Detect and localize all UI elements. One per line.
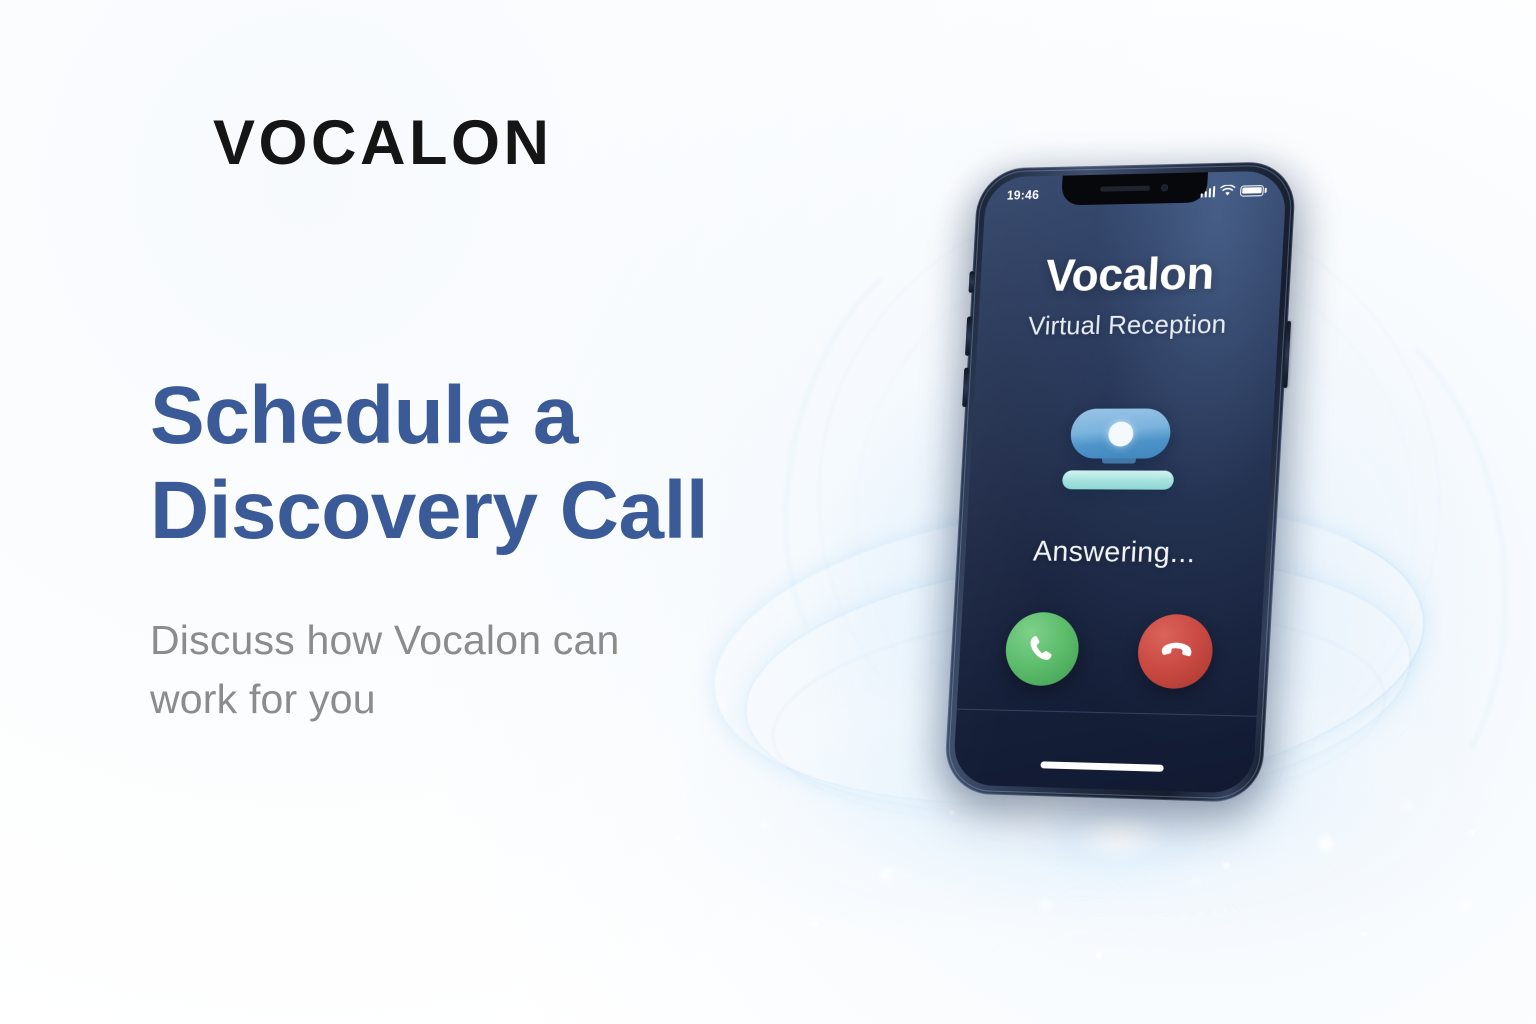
bokeh-particle — [130, 820, 138, 828]
app-title: Vocalon — [1045, 250, 1216, 297]
accept-call-button[interactable] — [1004, 612, 1081, 687]
call-action-buttons — [958, 611, 1262, 690]
bokeh-particle — [1460, 900, 1472, 912]
phone-hangup-icon — [1156, 633, 1194, 670]
bokeh-particle — [1192, 878, 1200, 886]
app-subtitle: Virtual Reception — [1027, 309, 1227, 342]
call-status-text: Answering... — [1032, 536, 1196, 571]
bokeh-particle — [1040, 900, 1051, 911]
bokeh-particle — [700, 900, 707, 907]
phone-screen: 19:46 Vocalon — [953, 170, 1288, 793]
bokeh-particle — [300, 880, 310, 890]
bokeh-particle — [470, 940, 479, 949]
volume-up-button[interactable] — [965, 316, 972, 355]
assistant-base-bar — [1062, 470, 1174, 489]
volume-down-button[interactable] — [962, 368, 969, 407]
decline-call-button[interactable] — [1136, 614, 1215, 690]
bokeh-particle — [880, 868, 893, 881]
phone-handset-icon — [1025, 632, 1060, 666]
phone-mockup: 19:46 Vocalon — [943, 161, 1297, 803]
page-subtitle: Discuss how Vocalon can work for you — [150, 611, 670, 730]
bokeh-particle — [760, 820, 769, 829]
mute-switch[interactable] — [968, 271, 974, 293]
assistant-head-shape — [1069, 408, 1171, 458]
brand-logo: VOCALON — [213, 112, 553, 175]
virtual-assistant-icon — [1055, 408, 1185, 489]
call-screen-content: Vocalon Virtual Reception Answering... — [953, 170, 1288, 793]
bokeh-particle — [60, 930, 72, 942]
slide-canvas: VOCALON Schedule a Discovery Call Discus… — [0, 0, 1536, 1024]
bokeh-particle — [1318, 836, 1333, 851]
phone-body: 19:46 Vocalon — [943, 161, 1297, 803]
page-title: Schedule a Discovery Call — [150, 368, 790, 558]
assistant-eye-shape — [1107, 421, 1133, 446]
bokeh-particle — [1402, 800, 1412, 810]
